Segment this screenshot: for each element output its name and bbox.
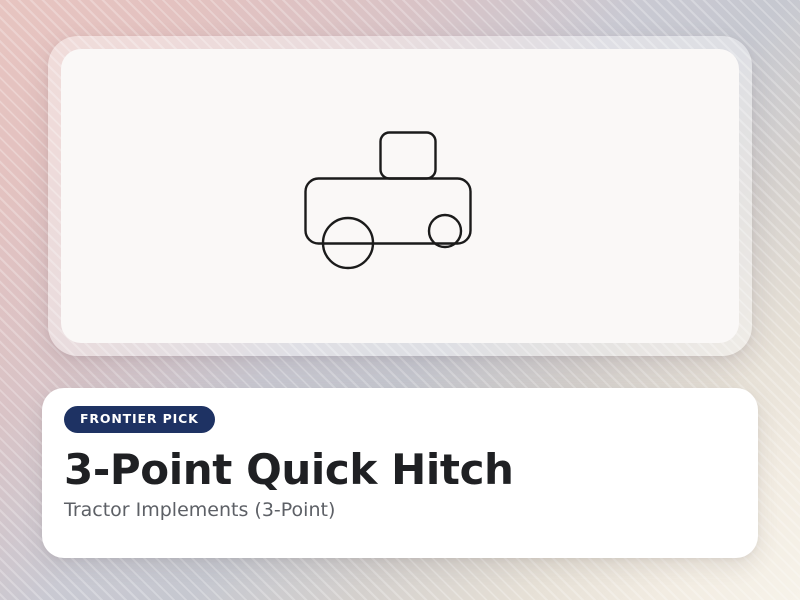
tractor-line-art-icon [300,121,500,271]
tractor-front-wheel-shape [429,215,461,247]
product-image-card [48,36,752,356]
product-category-subtitle: Tractor Implements (3-Point) [64,499,335,522]
screen-root: FRONTIER PICK 3-Point Quick Hitch Tracto… [0,0,800,600]
product-image-panel [61,49,739,343]
tractor-body-shape [306,179,471,244]
status-badge: FRONTIER PICK [64,406,215,433]
tractor-cab-shape [381,133,436,179]
page-title: 3-Point Quick Hitch [64,447,514,492]
product-info-card: FRONTIER PICK 3-Point Quick Hitch Tracto… [42,388,758,558]
